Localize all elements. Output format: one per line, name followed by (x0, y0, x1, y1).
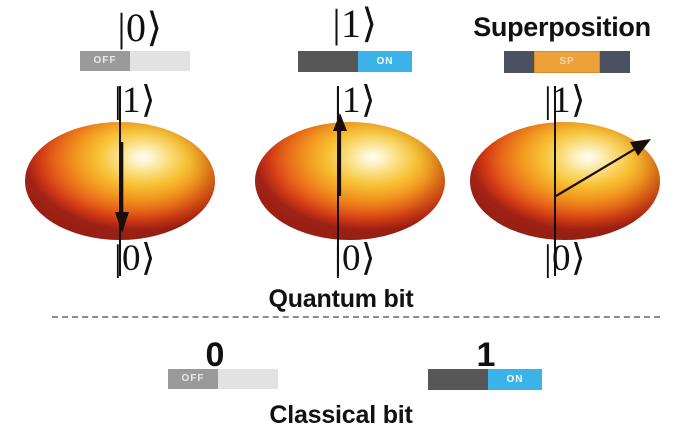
toggle-knob-off[interactable]: OFF (168, 369, 218, 389)
toggle-track-on[interactable] (298, 51, 358, 72)
toggle-label-off: OFF (94, 56, 117, 66)
state-vector-diagonal-2 (548, 132, 658, 204)
toggle-label-on: ON (377, 57, 394, 67)
sphere-0-bottom-label: |0⟩ (35, 240, 235, 277)
sphere-0-top-label: |1⟩ (35, 82, 235, 119)
state-vector-down-0 (100, 140, 144, 236)
sphere-2-top-label: |1⟩ (465, 82, 665, 119)
classical-off-toggle[interactable]: OFF (168, 369, 278, 389)
quantum-state-label-1: |1⟩ (255, 4, 455, 44)
toggle-knob-on[interactable]: ON (358, 51, 412, 72)
toggle-track-on[interactable] (428, 369, 488, 390)
toggle-track-sp-left[interactable] (504, 51, 534, 73)
sphere-1-bottom-label: |0⟩ (255, 240, 455, 277)
classical-digit-0: 0 (165, 338, 265, 372)
classical-bit-section-label: Classical bit (241, 403, 441, 428)
classical-on-toggle[interactable]: ON (428, 369, 542, 390)
toggle-track-off[interactable] (218, 369, 278, 389)
quantum-sp-toggle[interactable]: SP (504, 51, 630, 73)
toggle-track-sp-right[interactable] (600, 51, 630, 73)
quantum-state-label-superposition: Superposition (452, 14, 672, 41)
quantum-bit-section-label: Quantum bit (241, 287, 441, 312)
state-vector-up-1 (318, 112, 362, 198)
toggle-label-off: OFF (182, 374, 205, 384)
toggle-knob-on[interactable]: ON (488, 369, 542, 390)
classical-digit-1: 1 (436, 338, 536, 372)
toggle-label-sp: SP (559, 57, 574, 67)
toggle-knob-off[interactable]: OFF (80, 51, 130, 71)
figure-canvas: |0⟩ |1⟩ Superposition OFF ON SP |1⟩ |0⟩ … (0, 0, 682, 446)
quantum-state-label-0: |0⟩ (40, 8, 240, 48)
toggle-label-on: ON (507, 375, 524, 385)
section-divider (52, 316, 660, 318)
toggle-track-off[interactable] (130, 51, 190, 71)
quantum-off-toggle[interactable]: OFF (80, 51, 190, 71)
sphere-2-bottom-label: |0⟩ (465, 240, 665, 277)
quantum-on-toggle[interactable]: ON (298, 51, 412, 72)
toggle-knob-sp[interactable]: SP (534, 51, 600, 73)
